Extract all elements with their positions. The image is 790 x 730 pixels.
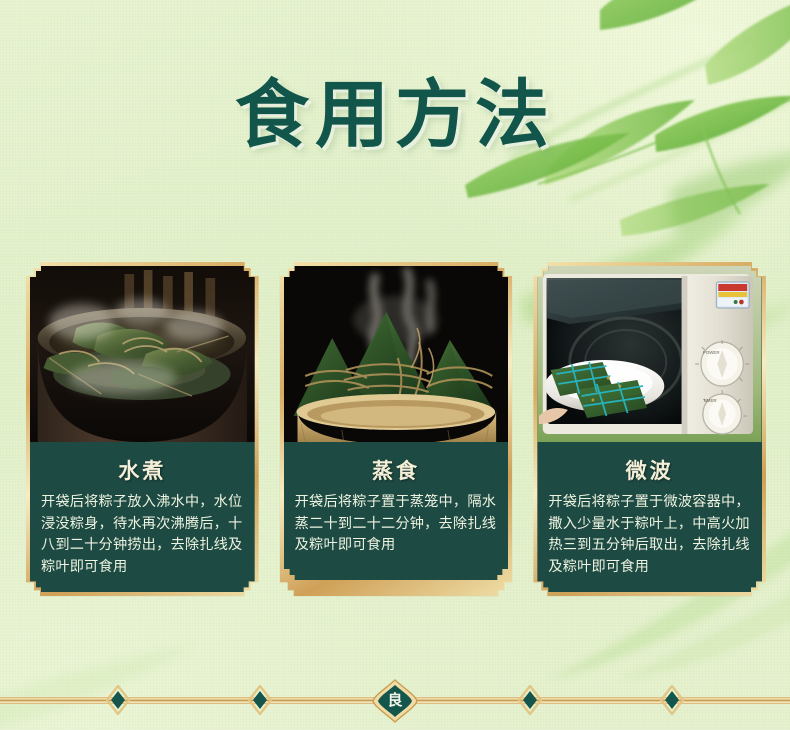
gold-divider-rule: 良 <box>0 693 790 707</box>
svg-text:POWER: POWER <box>703 350 720 355</box>
medallion-character: 良 <box>371 679 419 723</box>
zongzi-plate-into-microwave-photo: POWER TIMER <box>537 266 762 442</box>
diamond-ornament-icon <box>658 685 686 715</box>
card-title-boil: 水煮 <box>41 455 244 485</box>
card-body-steam: 开袋后将粽子置于蒸笼中，隔水蒸二十到二十二分钟，去除扎线及粽叶即可食用 <box>295 492 498 557</box>
method-panel-boil: 水煮 开袋后将粽子放入沸水中，水位浸没粽身，待水再次沸腾后，十八到二十分钟捞出，… <box>30 442 255 592</box>
page-title-wrap: 食用方法 <box>0 78 790 152</box>
method-card-list: 水煮 开袋后将粽子放入沸水中，水位浸没粽身，待水再次沸腾后，十八到二十分钟捞出，… <box>26 262 766 596</box>
card-inner: 水煮 开袋后将粽子放入沸水中，水位浸没粽身，待水再次沸腾后，十八到二十分钟捞出，… <box>30 266 255 592</box>
card-title-microwave: 微波 <box>548 455 751 485</box>
method-panel-steam: 蒸食 开袋后将粽子置于蒸笼中，隔水蒸二十到二十二分钟，去除扎线及粽叶即可食用 <box>284 442 509 580</box>
diamond-ornament-icon <box>246 685 274 715</box>
brand-medallion: 良 <box>371 679 419 723</box>
card-inner: POWER TIMER <box>537 266 762 592</box>
diamond-ornament-icon <box>516 685 544 715</box>
card-body-microwave: 开袋后将粽子置于微波容器中，撒入少量水于粽叶上，中高火加热三到五分钟后取出，去除… <box>548 492 751 578</box>
method-card-microwave[interactable]: POWER TIMER <box>533 262 766 596</box>
card-title-steam: 蒸食 <box>295 455 498 485</box>
card-inner: 蒸食 开袋后将粽子置于蒸笼中，隔水蒸二十到二十二分钟，去除扎线及粽叶即可食用 <box>284 266 509 580</box>
page-title: 食用方法 <box>235 78 555 152</box>
method-panel-microwave: 微波 开袋后将粽子置于微波容器中，撒入少量水于粽叶上，中高火加热三到五分钟后取出… <box>537 442 762 592</box>
zongzi-boiling-in-pot-photo <box>30 266 255 442</box>
method-card-steam[interactable]: 蒸食 开袋后将粽子置于蒸笼中，隔水蒸二十到二十二分钟，去除扎线及粽叶即可食用 <box>280 262 513 596</box>
card-body-boil: 开袋后将粽子放入沸水中，水位浸没粽身，待水再次沸腾后，十八到二十分钟捞出，去除扎… <box>41 492 244 578</box>
diamond-ornament-icon <box>104 685 132 715</box>
promo-page: 食用方法 <box>0 0 790 730</box>
zongzi-in-bamboo-steamer-photo <box>284 266 509 442</box>
svg-text:TIMER: TIMER <box>703 398 717 403</box>
method-card-boil[interactable]: 水煮 开袋后将粽子放入沸水中，水位浸没粽身，待水再次沸腾后，十八到二十分钟捞出，… <box>26 262 259 596</box>
